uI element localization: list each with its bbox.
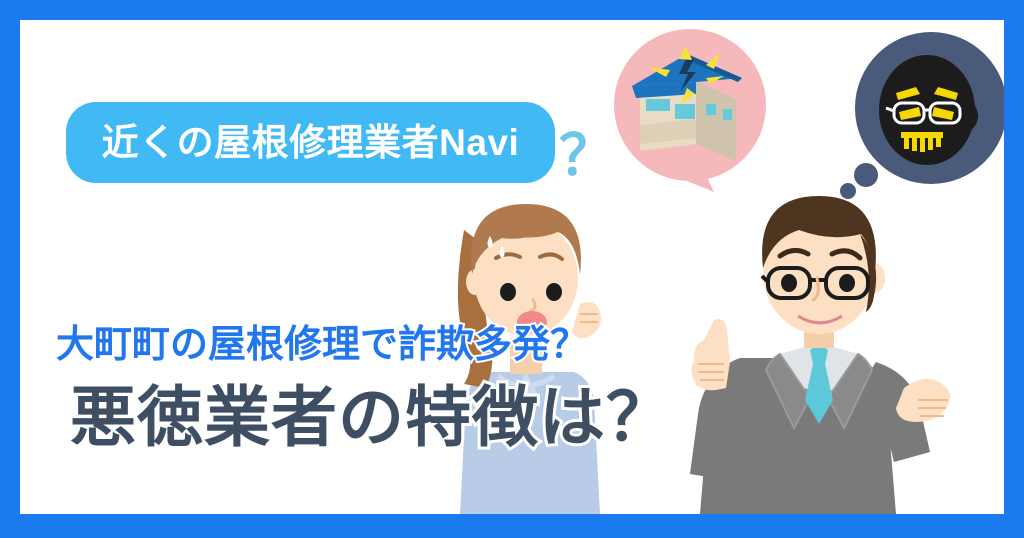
villain-face-icon (879, 55, 978, 165)
badge-question-mark: ？ (559, 128, 615, 184)
headline-title: 悪徳業者の特徴は？ (70, 384, 673, 450)
banner-canvas: 近くの屋根修理業者Navi ？ 大町町の屋根修理で詐欺多発？ 悪徳業者の特徴は？ (20, 20, 1004, 514)
banner-frame: 近くの屋根修理業者Navi ？ 大町町の屋根修理で詐欺多発？ 悪徳業者の特徴は？ (0, 0, 1024, 538)
open-palm-icon (896, 379, 950, 422)
speech-bubble-house (614, 29, 766, 192)
site-name-badge[interactable]: 近くの屋根修理業者Navi (66, 102, 555, 183)
thought-bubble-shady-contractor (840, 32, 1004, 199)
house-icon (632, 46, 742, 161)
site-name-label: 近くの屋根修理業者Navi (102, 124, 520, 161)
glasses-icon (762, 268, 868, 298)
advisor-man-illustration (690, 196, 950, 514)
headline-subtitle: 大町町の屋根修理で詐欺多発？ (56, 326, 588, 364)
pointing-hand-icon (691, 319, 730, 390)
